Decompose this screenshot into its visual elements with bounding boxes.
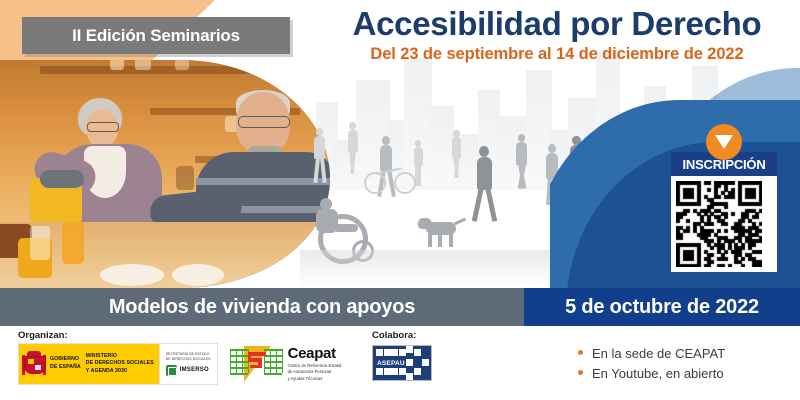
venue-item: En la sede de CEAPAT: [578, 344, 725, 364]
hero-section: Accesibilidad por Derecho Del 23 de sept…: [0, 0, 800, 288]
silhouette: [346, 122, 360, 175]
asepau-label: ASEPAU: [376, 359, 406, 368]
edition-tag: II Edición Seminarios: [22, 17, 290, 54]
ceapat-description: Centro de Referencia Estatal de Autonomí…: [288, 363, 342, 382]
organizer-logos: GOBIERNO DE ESPAÑA MINISTERIO DE DERECHO…: [18, 343, 341, 385]
title-block: Accesibilidad por Derecho Del 23 de sept…: [322, 6, 792, 64]
qr-code-container[interactable]: [671, 176, 777, 272]
imserso-label: IMSERSO: [180, 367, 209, 373]
imserso-mark-icon: [166, 365, 177, 376]
organizan-label: Organizan:: [18, 330, 68, 341]
footer-section: Organizan: Colabora: GOBIERNO DE ESPAÑA …: [0, 326, 800, 400]
silhouette: [450, 130, 463, 180]
session-bar: Modelos de vivienda con apoyos 5 de octu…: [0, 288, 800, 326]
logo-gobierno-de-espana: GOBIERNO DE ESPAÑA MINISTERIO DE DERECHO…: [18, 343, 218, 385]
venue-list: En la sede de CEAPATEn Youtube, en abier…: [578, 344, 725, 384]
date-range-subtitle: Del 23 de septiembre al 14 de diciembre …: [322, 45, 792, 64]
ceapat-mark-icon: [230, 344, 284, 384]
silhouette: [514, 134, 528, 190]
page-title: Accesibilidad por Derecho: [322, 6, 792, 42]
ministerio-text: MINISTERIO DE DERECHOS SOCIALES Y AGENDA…: [86, 353, 154, 376]
colabora-label: Colabora:: [372, 330, 416, 341]
silhouette: [474, 146, 494, 224]
bicycle-silhouette: [364, 164, 416, 190]
event-banner: Accesibilidad por Derecho Del 23 de sept…: [0, 0, 800, 400]
ceapat-name: Ceapat: [288, 346, 342, 361]
logo-ceapat: Ceapat Centro de Referencia Estatal de A…: [230, 344, 342, 384]
photo-elderly-couple: [0, 60, 330, 288]
silhouette: [312, 128, 326, 184]
spain-coat-of-arms-icon: [23, 351, 45, 377]
qr-code-icon[interactable]: [676, 181, 762, 267]
guide-dog-silhouette: [418, 218, 464, 248]
inscription-block[interactable]: INSCRIPCIÓN: [671, 152, 777, 272]
venue-item: En Youtube, en abierto: [578, 364, 725, 384]
logo-asepau: ASEPAU: [372, 345, 432, 381]
session-date: 5 de octubre de 2022: [524, 288, 800, 326]
triangle-down-icon: [706, 124, 742, 160]
secretaria-estado-text: SECRETARÍA DE ESTADO DE DERECHOS SOCIALE…: [166, 352, 211, 362]
gobierno-text: GOBIERNO DE ESPAÑA: [50, 356, 81, 371]
session-title: Modelos de vivienda con apoyos: [0, 288, 524, 326]
logo-imserso: SECRETARÍA DE ESTADO DE DERECHOS SOCIALE…: [159, 344, 217, 384]
